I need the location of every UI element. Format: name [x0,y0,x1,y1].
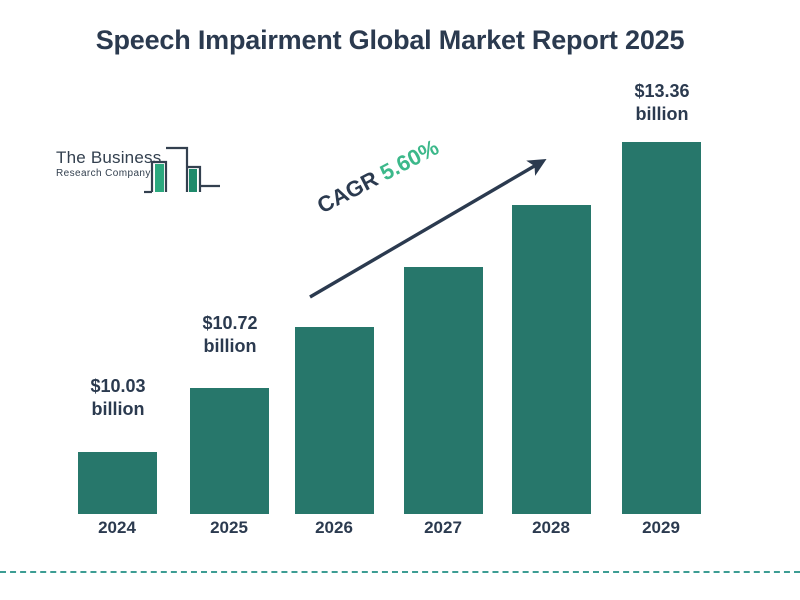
bar-value-unit-2024: billion [58,398,178,421]
cagr-value: 5.60% [376,134,443,185]
x-tick-2029: 2029 [601,518,721,538]
bar-value-amount-2024: $10.03 [58,375,178,398]
bar-value-unit-2029: billion [602,103,722,126]
x-tick-2024: 2024 [57,518,177,538]
bar-value-label-2029: $13.36 billion [602,80,722,126]
bar-2028 [512,205,591,514]
bar-chart-plot: $10.03 billion $10.72 billion $13.36 bil… [0,0,800,600]
cagr-label: CAGR [313,166,382,218]
chart-infographic: Speech Impairment Global Market Report 2… [0,0,800,600]
company-logo: The Business Research Company [52,140,237,202]
growth-arrow-icon [0,0,800,600]
bar-value-label-2024: $10.03 billion [58,375,178,421]
bar-value-label-2025: $10.72 billion [170,312,290,358]
x-tick-2025: 2025 [169,518,289,538]
x-tick-2027: 2027 [383,518,503,538]
bar-2029 [622,142,701,514]
page-title: Speech Impairment Global Market Report 2… [60,24,720,57]
bar-chart-logo-icon [52,140,237,202]
x-tick-2028: 2028 [491,518,611,538]
bar-value-unit-2025: billion [170,335,290,358]
bar-value-amount-2029: $13.36 [602,80,722,103]
bar-2027 [404,267,483,514]
cagr-annotation: CAGR 5.60% [313,134,443,219]
x-tick-2026: 2026 [274,518,394,538]
bar-2025 [190,388,269,514]
bar-2026 [295,327,374,514]
footer-divider [0,571,800,573]
bar-2024 [78,452,157,514]
bar-value-amount-2025: $10.72 [170,312,290,335]
